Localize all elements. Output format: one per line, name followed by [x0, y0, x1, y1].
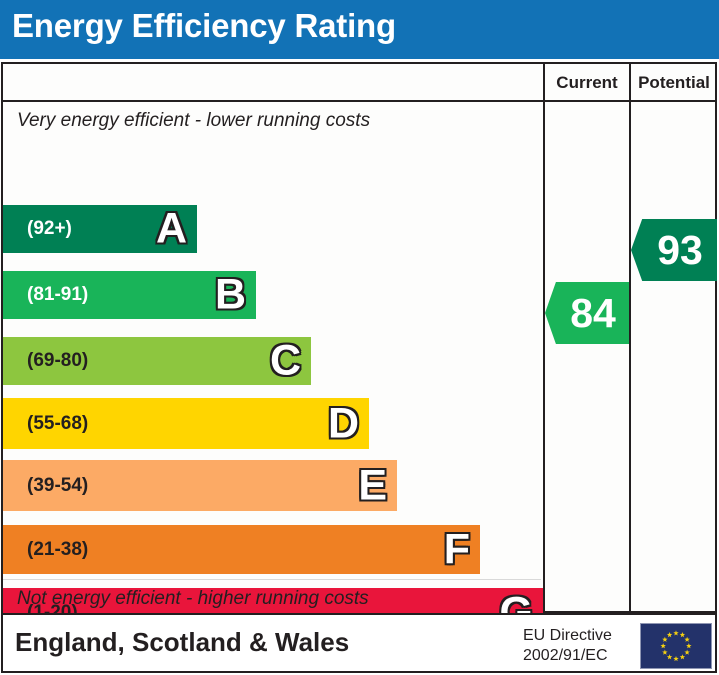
- eu-flag-icon: [640, 623, 712, 669]
- band-letter-b: B: [215, 274, 246, 317]
- band-letter-d: D: [328, 402, 359, 445]
- caption-divider: [3, 579, 541, 580]
- band-letter-a: A: [156, 208, 187, 251]
- band-letter-c: C: [270, 340, 301, 383]
- band-range-label: (81-91): [27, 284, 88, 306]
- eu-directive-text: EU Directive 2002/91/EC: [523, 626, 631, 666]
- column-header-potential: Potential: [631, 64, 717, 102]
- band-range-label: (92+): [27, 218, 72, 240]
- column-divider-current: [543, 64, 545, 611]
- rating-value-potential: 93: [645, 230, 703, 271]
- band-a: (92+)A: [3, 205, 197, 253]
- band-range-label: (69-80): [27, 350, 88, 372]
- band-range-label: (55-68): [27, 413, 88, 435]
- band-e: (39-54)E: [3, 460, 397, 511]
- band-letter-e: E: [358, 464, 387, 507]
- region-label: England, Scotland & Wales: [15, 627, 349, 658]
- rating-arrow-current: 84: [545, 282, 629, 344]
- title-bar: Energy Efficiency Rating: [0, 0, 719, 59]
- rating-arrow-potential: 93: [631, 219, 717, 281]
- band-f: (21-38)F: [3, 525, 480, 574]
- rating-value-current: 84: [558, 293, 616, 334]
- eu-directive-line-2: 2002/91/EC: [523, 646, 631, 666]
- footer-bar: England, Scotland & Wales EU Directive 2…: [1, 613, 717, 673]
- band-range-label: (21-38): [27, 539, 88, 561]
- band-d: (55-68)D: [3, 398, 369, 449]
- rating-table: Current Potential Very energy efficient …: [1, 62, 717, 613]
- eu-directive-line-1: EU Directive: [523, 626, 631, 646]
- column-divider-potential: [629, 64, 631, 611]
- band-c: (69-80)C: [3, 337, 311, 385]
- band-b: (81-91)B: [3, 271, 256, 319]
- column-header-current: Current: [545, 64, 629, 102]
- page-title: Energy Efficiency Rating: [12, 7, 396, 45]
- band-letter-f: F: [444, 528, 470, 571]
- caption-very-efficient: Very energy efficient - lower running co…: [17, 110, 370, 132]
- caption-not-efficient: Not energy efficient - higher running co…: [17, 588, 369, 610]
- band-range-label: (39-54): [27, 475, 88, 497]
- energy-efficiency-rating-chart: Energy Efficiency Rating Current Potenti…: [0, 0, 719, 675]
